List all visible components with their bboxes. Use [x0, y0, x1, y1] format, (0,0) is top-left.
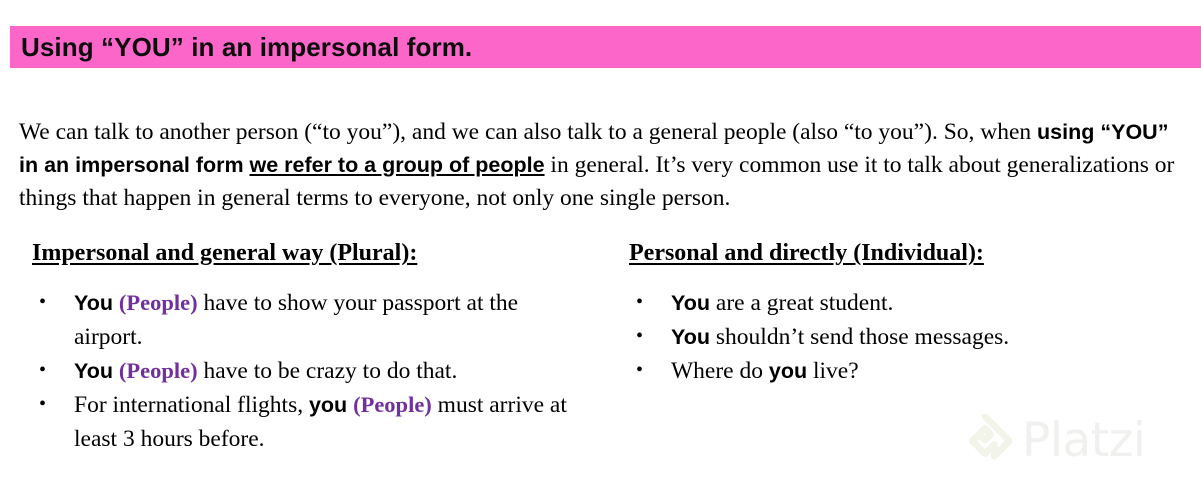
item-you-word: You [671, 291, 710, 315]
item-you-word: you [309, 393, 347, 417]
intro-text-part1: We can talk to another person (“to you”)… [19, 119, 1037, 145]
column-heading-personal: Personal and directly (Individual): [629, 238, 984, 268]
personal-examples-list: You are a great student. You shouldn’t s… [629, 286, 1201, 388]
column-personal: Personal and directly (Individual): You … [600, 238, 1201, 456]
list-item: You shouldn’t send those messages. [629, 320, 1191, 354]
list-item: For international flights, you (People) … [32, 388, 579, 456]
item-lead-text: Where do [671, 358, 769, 384]
list-item: You are a great student. [629, 286, 1191, 320]
column-heading-impersonal: Impersonal and general way (Plural): [32, 238, 417, 268]
item-you-word: You [671, 325, 710, 349]
intro-underlined-phrase: we refer to a group of people [249, 153, 544, 177]
two-column-examples: Impersonal and general way (Plural): You… [0, 238, 1201, 456]
item-rest-text: shouldn’t send those messages. [710, 324, 1009, 350]
column-impersonal: Impersonal and general way (Plural): You… [0, 238, 600, 456]
item-lead-text: For international flights, [74, 392, 309, 418]
item-you-word: You [74, 359, 113, 383]
impersonal-examples-list: You (People) have to show your passport … [32, 286, 600, 456]
list-item: You (People) have to show your passport … [32, 286, 579, 354]
item-you-word: you [769, 359, 807, 383]
item-people-annotation: (People) [119, 358, 198, 383]
item-people-annotation: (People) [119, 290, 198, 315]
item-rest-text: live? [807, 358, 859, 384]
item-rest-text: are a great student. [710, 290, 893, 316]
page-title-bar: Using “YOU” in an impersonal form. [10, 26, 1201, 68]
item-people-annotation: (People) [353, 392, 432, 417]
intro-paragraph: We can talk to another person (“to you”)… [19, 116, 1179, 215]
list-item: Where do you live? [629, 354, 1191, 388]
list-item: You (People) have to be crazy to do that… [32, 354, 579, 388]
item-you-word: You [74, 291, 113, 315]
page-title: Using “YOU” in an impersonal form. [21, 34, 472, 60]
item-rest-text: have to be crazy to do that. [198, 358, 458, 384]
